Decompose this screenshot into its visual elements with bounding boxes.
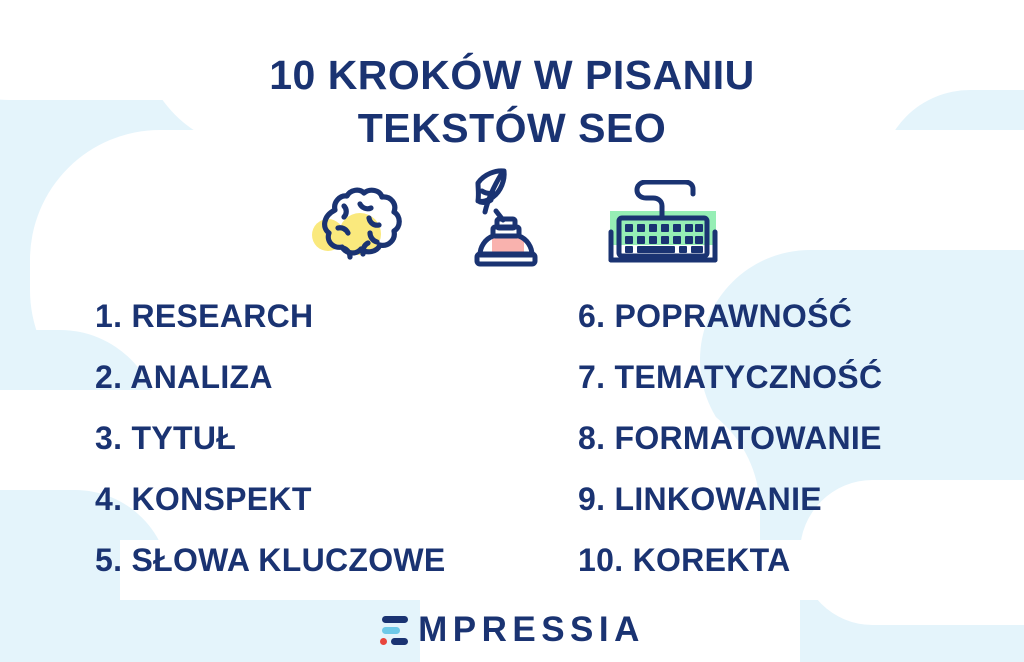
- brain-icon: [305, 180, 409, 277]
- brand-logo: MPRESSIA: [0, 610, 1024, 650]
- icon-row: [0, 166, 1024, 277]
- inkwell-quill-icon: [469, 166, 547, 277]
- brand-name: MPRESSIA: [418, 610, 645, 650]
- title-line-1: 10 KROKÓW W PISANIU: [0, 49, 1024, 101]
- keyboard-icon: [607, 180, 719, 277]
- title-line-2: TEKSTÓW SEO: [0, 102, 1024, 154]
- empressia-e-mark-icon: [379, 614, 409, 648]
- infographic-poster: 10 KROKÓW W PISANIU TEKSTÓW SEO: [0, 0, 1024, 662]
- steps-column-right: 6. POPRAWNOŚĆ 7. TEMATYCZNOŚĆ 8. FORMATO…: [0, 296, 578, 601]
- steps-list: 1. RESEARCH 2. ANALIZA 3. TYTUŁ 4. KONSP…: [0, 296, 1024, 601]
- page-title: 10 KROKÓW W PISANIU TEKSTÓW SEO: [0, 49, 1024, 154]
